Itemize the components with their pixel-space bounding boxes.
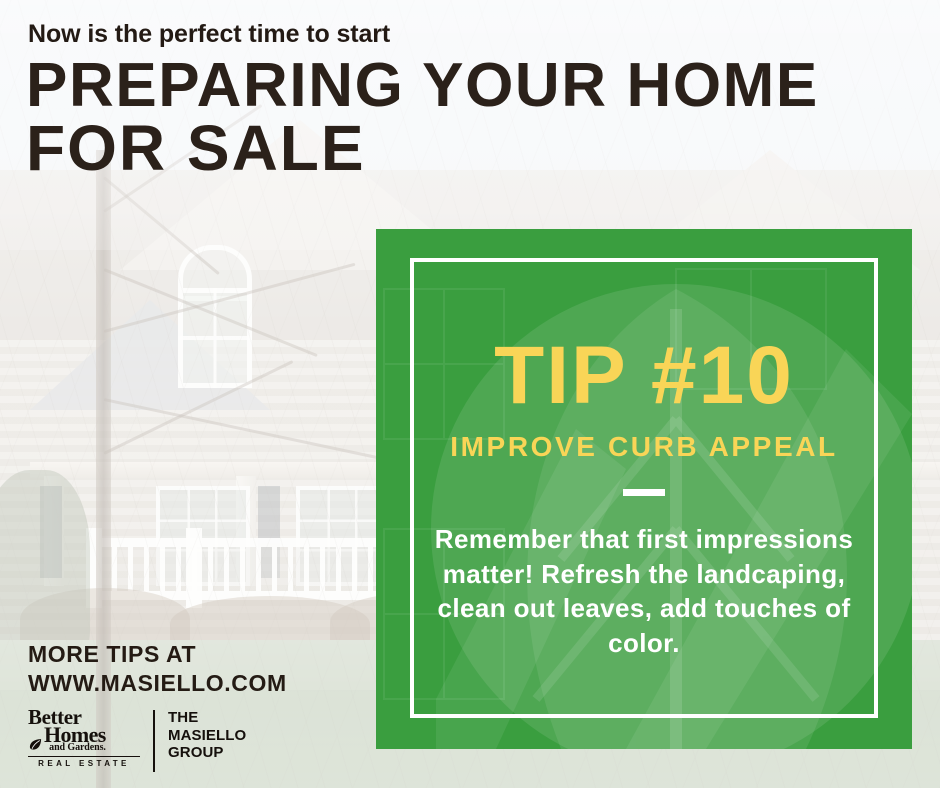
poster-canvas: Now is the perfect time to start PREPARI… — [0, 0, 940, 788]
logo-word-homes: Homes and Gardens. — [44, 726, 106, 753]
masiello-group-logo: THE MASIELLO GROUP — [168, 708, 246, 762]
tip-panel: TIP #10 IMPROVE CURB APPEAL Remember tha… — [376, 229, 912, 749]
logo-divider — [153, 710, 155, 772]
masiello-line-2: MASIELLO — [168, 727, 246, 745]
divider-rule-icon — [623, 489, 665, 496]
page-title: PREPARING YOUR HOME FOR SALE — [26, 56, 819, 179]
masiello-line-1: THE — [168, 709, 246, 727]
masiello-line-3: GROUP — [168, 744, 246, 762]
tip-number: TIP #10 — [376, 335, 912, 417]
more-tips-block: MORE TIPS AT WWW.MASIELLO.COM — [28, 640, 287, 699]
tip-content: TIP #10 IMPROVE CURB APPEAL Remember tha… — [376, 229, 912, 660]
logo-homes-row: Homes and Gardens. — [28, 726, 140, 753]
kicker-text: Now is the perfect time to start — [28, 22, 390, 47]
more-tips-line-1: MORE TIPS AT — [28, 640, 287, 669]
bhg-leaf-icon — [28, 737, 43, 751]
tip-body-text: Remember that first impressions matter! … — [434, 522, 854, 660]
more-tips-line-2: WWW.MASIELLO.COM — [28, 669, 287, 698]
logo-rule — [28, 756, 140, 757]
better-homes-gardens-logo: Better Homes and Gardens. REAL ESTATE — [28, 708, 140, 768]
logo-and-gardens-text: and Gardens. — [44, 743, 106, 753]
tip-subtitle: IMPROVE CURB APPEAL — [376, 433, 912, 461]
logo-lockup: Better Homes and Gardens. REAL ESTATE TH… — [28, 708, 246, 772]
logo-real-estate-tagline: REAL ESTATE — [28, 759, 140, 768]
headline-line-1: PREPARING YOUR HOME — [26, 51, 819, 120]
headline-line-2: FOR SALE — [26, 118, 819, 179]
